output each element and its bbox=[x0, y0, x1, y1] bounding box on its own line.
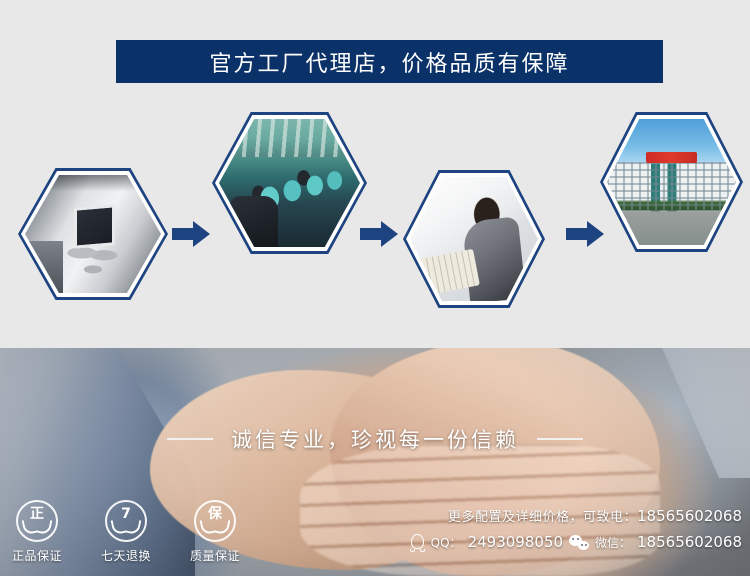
office-service-photo bbox=[410, 177, 538, 301]
wechat-label: 微信： bbox=[595, 534, 631, 551]
authentic-guarantee-icon: 正 bbox=[16, 500, 58, 542]
hexagon-frame-1 bbox=[18, 168, 168, 300]
hexagon-frame-2 bbox=[212, 112, 367, 254]
contact-phone-prefix: 更多配置及详细价格，可致电： bbox=[448, 510, 637, 525]
arrow-shaft bbox=[566, 228, 589, 240]
quality-guarantee-icon: 保 bbox=[194, 500, 236, 542]
equipment-photo bbox=[25, 175, 161, 293]
process-step-factory-building bbox=[600, 112, 743, 252]
assembly-line-photo bbox=[219, 119, 360, 247]
hexagon-inner-1 bbox=[21, 171, 165, 297]
badge-seven-day-return: 7 七天退换 bbox=[95, 500, 157, 564]
contact-phone-line: 更多配置及详细价格，可致电：18565602068 bbox=[410, 506, 742, 525]
qq-body bbox=[411, 534, 424, 549]
hexagon-frame-3 bbox=[403, 170, 545, 308]
hexagon-photo-2 bbox=[219, 119, 360, 247]
arrow-shaft bbox=[172, 228, 195, 240]
hexagon-photo-3 bbox=[410, 177, 538, 301]
hexagon-photo-1 bbox=[25, 175, 161, 293]
process-step-office-service bbox=[403, 170, 545, 308]
arrow-2-icon bbox=[360, 221, 398, 247]
wechat-bubble-small bbox=[578, 541, 589, 550]
contact-im-line: QQ： 2493098050 微信： 18565602068 bbox=[410, 533, 742, 551]
arrow-1-icon bbox=[172, 221, 210, 247]
hands-icon bbox=[112, 521, 140, 534]
badge-quality-guarantee: 保 质量保证 bbox=[184, 500, 246, 564]
badge-authentic: 正 正品保证 bbox=[6, 500, 68, 564]
badge-label: 正品保证 bbox=[6, 547, 68, 564]
hexagon-photo-4 bbox=[607, 119, 736, 245]
seven-day-return-icon: 7 bbox=[105, 500, 147, 542]
process-flow-section: 官方工厂代理店，价格品质有保障 bbox=[0, 0, 750, 348]
slogan-rule-left bbox=[167, 438, 213, 440]
contact-block: 更多配置及详细价格，可致电：18565602068 QQ： 2493098050… bbox=[410, 506, 742, 551]
wechat-dot bbox=[585, 544, 587, 546]
page-title-banner: 官方工厂代理店，价格品质有保障 bbox=[116, 40, 663, 83]
wechat-dot bbox=[581, 544, 583, 546]
arrow-3-icon bbox=[566, 221, 604, 247]
hexagon-inner-2 bbox=[215, 115, 364, 251]
arrow-head bbox=[381, 221, 398, 247]
hexagon-inner-3 bbox=[406, 173, 542, 305]
badge-label: 七天退换 bbox=[95, 547, 157, 564]
slogan-text: 诚信专业，珍视每一份信赖 bbox=[231, 424, 519, 454]
hexagon-inner-4 bbox=[603, 115, 740, 249]
qq-label: QQ： bbox=[431, 534, 462, 551]
process-step-equipment bbox=[18, 168, 168, 300]
wechat-dot bbox=[577, 538, 579, 540]
slogan-row: 诚信专业，珍视每一份信赖 bbox=[0, 424, 750, 454]
slogan-rule-right bbox=[537, 438, 583, 440]
wechat-dot bbox=[572, 538, 574, 540]
qq-foot-right bbox=[420, 549, 425, 552]
qq-foot-left bbox=[410, 549, 415, 552]
wechat-icon bbox=[569, 534, 589, 550]
page-title: 官方工厂代理店，价格品质有保障 bbox=[209, 46, 569, 78]
hexagon-frame-4 bbox=[600, 112, 743, 252]
guarantee-badges: 正 正品保证 7 七天退换 保 质量保证 bbox=[6, 500, 246, 564]
hands-icon bbox=[23, 521, 51, 534]
wechat-number[interactable]: 18565602068 bbox=[637, 533, 742, 551]
process-step-assembly-line bbox=[212, 112, 367, 254]
arrow-shaft bbox=[360, 228, 383, 240]
arrow-head bbox=[193, 221, 210, 247]
contact-phone-number[interactable]: 18565602068 bbox=[637, 507, 742, 525]
factory-building-photo bbox=[607, 119, 736, 245]
qq-number[interactable]: 2493098050 bbox=[468, 533, 563, 551]
hands-icon bbox=[201, 521, 229, 534]
qq-penguin-icon bbox=[410, 534, 425, 551]
badge-label: 质量保证 bbox=[184, 547, 246, 564]
